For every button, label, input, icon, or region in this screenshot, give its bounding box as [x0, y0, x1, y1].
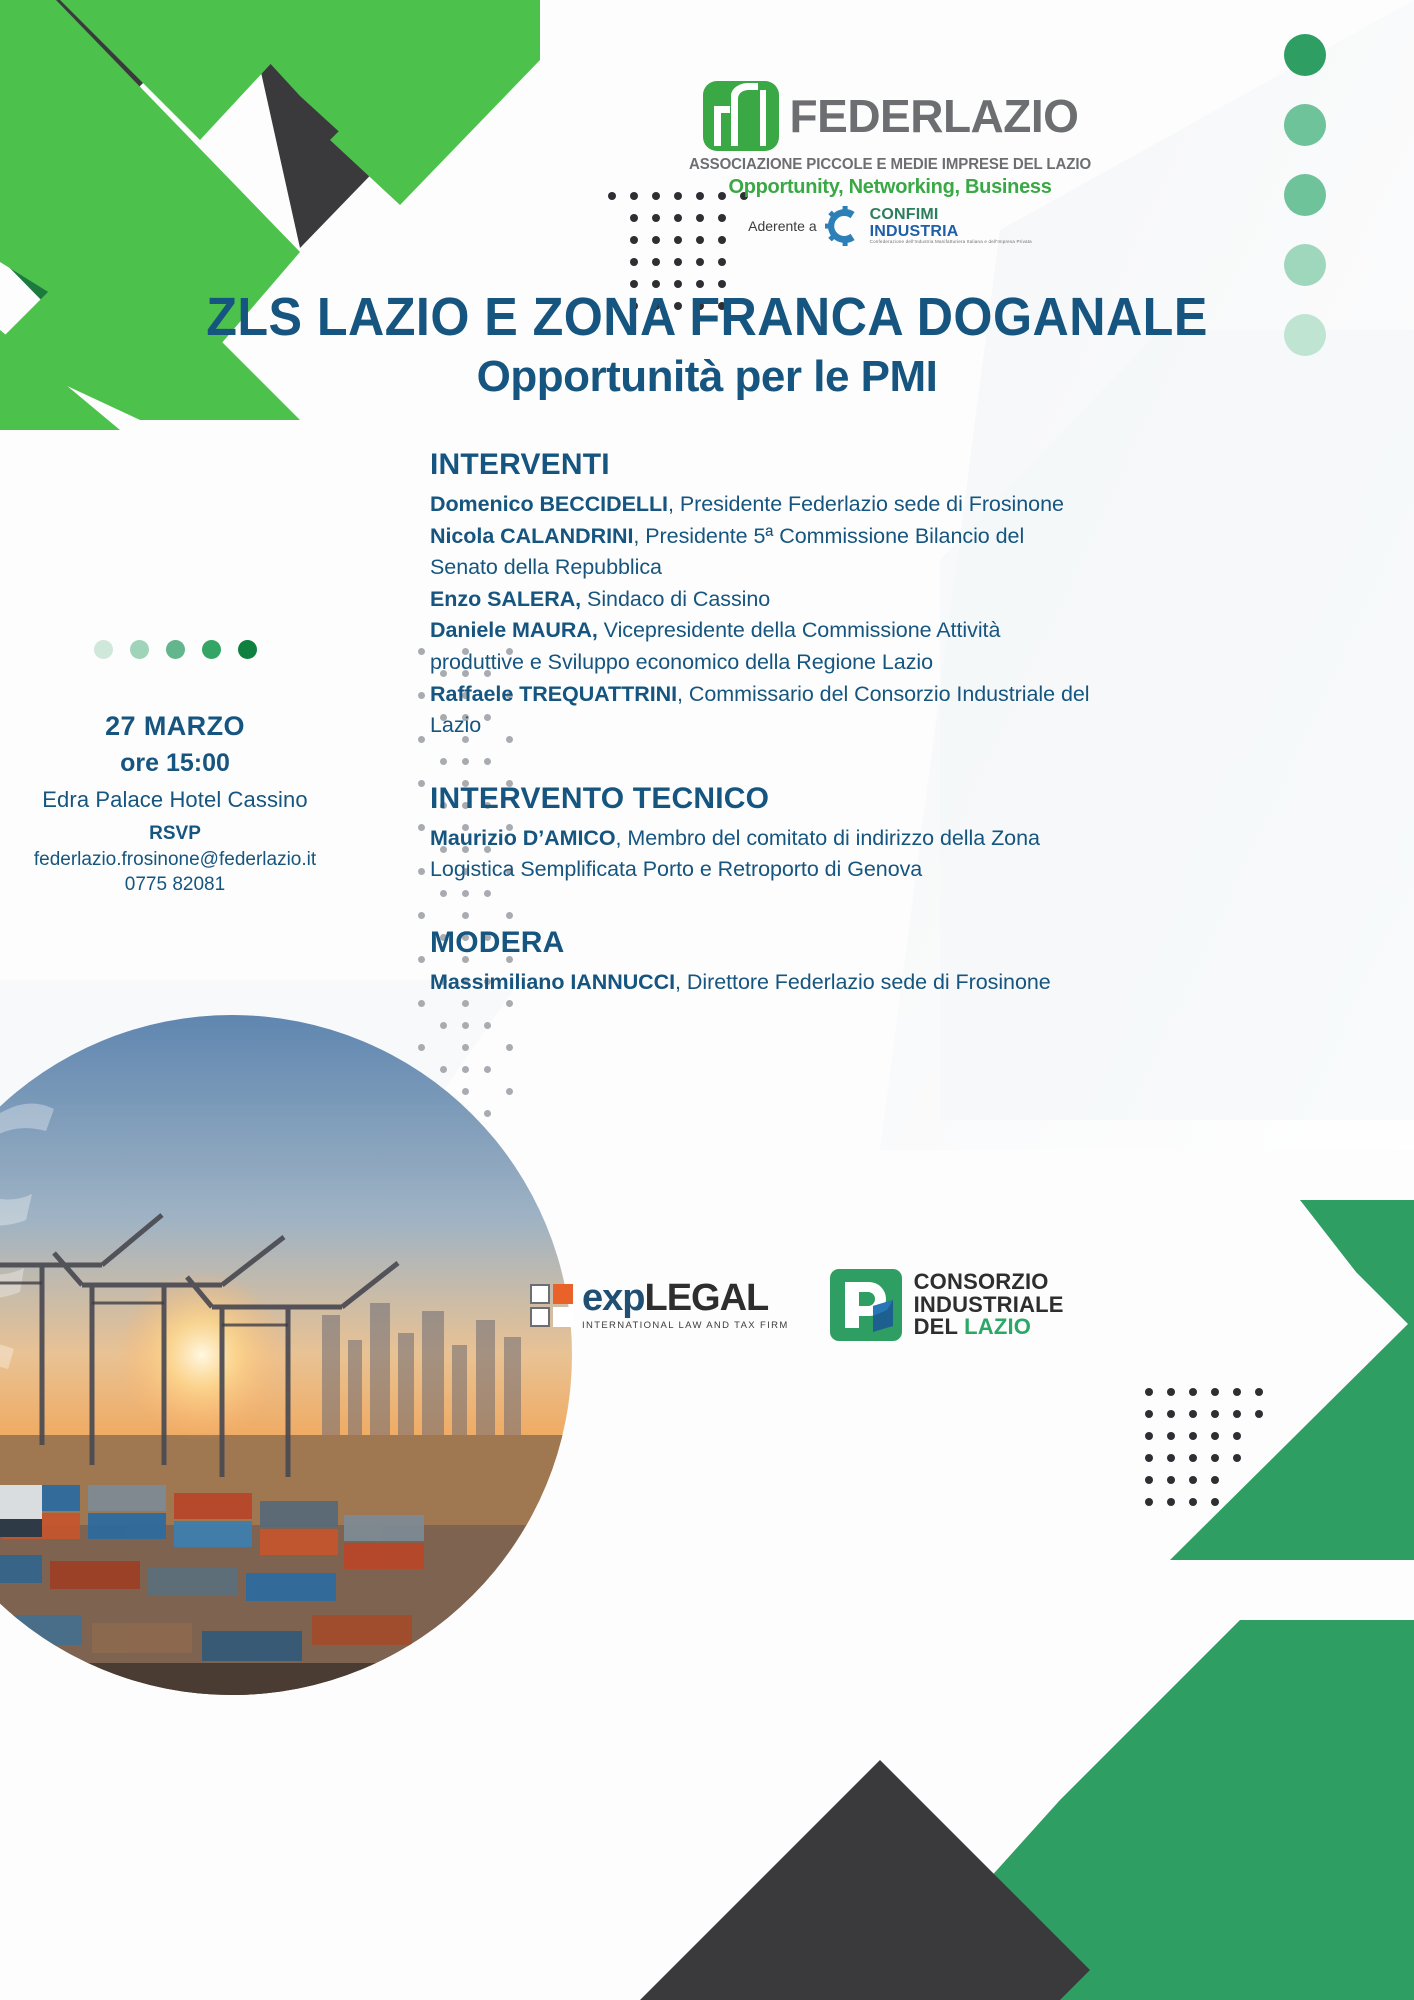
speaker-name: Raffaele TREQUATTRINI: [430, 682, 677, 706]
green-dot-5: [238, 640, 257, 659]
decorative-dot: [718, 258, 726, 266]
decorative-dot: [1189, 1454, 1197, 1462]
decorative-dot: [1255, 1410, 1263, 1418]
green-dot-3: [166, 640, 185, 659]
speaker-name: Domenico BECCIDELLI: [430, 492, 668, 516]
poster-title: ZLS LAZIO E ZONA FRANCA DOGANALE: [49, 286, 1364, 348]
decorative-dot: [630, 236, 638, 244]
decorative-dot: [418, 692, 425, 699]
explegal-exp: exp: [582, 1277, 644, 1319]
decorative-dot: [630, 258, 638, 266]
consorzio-logo: CONSORZIO INDUSTRIALE DEL LAZIO: [829, 1268, 1064, 1342]
decorative-dot: [1233, 1388, 1241, 1396]
explegal-squares: [530, 1284, 573, 1327]
decorative-dot: [418, 956, 425, 963]
decorative-dot: [1189, 1432, 1197, 1440]
programme: INTERVENTIDomenico BECCIDELLI, President…: [430, 448, 1090, 999]
consorzio-line3: DEL LAZIO: [914, 1316, 1064, 1338]
decorative-dot: [1145, 1454, 1153, 1462]
poster-subtitle: Opportunità per le PMI: [0, 352, 1414, 402]
green-dot-4: [202, 640, 221, 659]
aderente-label: Aderente a: [748, 218, 817, 234]
rsvp-label: RSVP: [0, 823, 350, 845]
decorative-dot: [1233, 1454, 1241, 1462]
decorative-dot: [1189, 1476, 1197, 1484]
event-poster: FEDERLAZIO ASSOCIAZIONE PICCOLE E MEDIE …: [0, 0, 1414, 2000]
footer-logos: expLEGAL INTERNATIONAL LAW AND TAX FIRM …: [530, 1268, 1064, 1342]
explegal-logo: expLEGAL INTERNATIONAL LAW AND TAX FIRM: [530, 1279, 789, 1331]
decorative-dot: [418, 1000, 425, 1007]
logo-subtitle: ASSOCIAZIONE PICCOLE E MEDIE IMPRESE DEL…: [662, 156, 1118, 174]
federlazio-mark: [702, 80, 780, 152]
decorative-dot: [1189, 1388, 1197, 1396]
logo-tagline: Opportunity, Networking, Business: [655, 176, 1125, 199]
decorative-dot: [462, 1000, 469, 1007]
speaker-entry: Enzo SALERA, Sindaco di Cassino: [430, 584, 1090, 616]
decorative-dot: [1167, 1410, 1175, 1418]
event-date: 27 MARZO: [0, 711, 350, 742]
decorative-dot: [418, 780, 425, 787]
decorative-dot: [1233, 1410, 1241, 1418]
decorative-dot: [1167, 1454, 1175, 1462]
decorative-dot: [696, 258, 704, 266]
federlazio-logo: FEDERLAZIO ASSOCIAZIONE PICCOLE E MEDIE …: [655, 80, 1125, 246]
decorative-dot: [418, 868, 425, 875]
decorative-dot: [418, 736, 425, 743]
speaker-name: Nicola CALANDRINI: [430, 524, 633, 548]
decorative-dot: [1211, 1388, 1219, 1396]
confimi-logo: CONFIMI INDUSTRIA Confederazione dell'In…: [825, 206, 1032, 246]
decorative-dot: [1211, 1410, 1219, 1418]
speaker-name: Massimiliano IANNUCCI: [430, 970, 675, 994]
speaker-name: Maurizio D’AMICO: [430, 826, 616, 850]
speaker-entry: Maurizio D’AMICO, Membro del comitato di…: [430, 823, 1090, 886]
speaker-entry: Domenico BECCIDELLI, Presidente Federlaz…: [430, 489, 1090, 521]
event-details: 27 MARZO ore 15:00 Edra Palace Hotel Cas…: [0, 640, 350, 896]
consorzio-industriale-mark: [829, 1268, 903, 1342]
consorzio-line3-prefix: DEL: [914, 1314, 965, 1339]
decorative-dot: [674, 258, 682, 266]
confimi-line3: Confederazione dell'Industria Manifattur…: [870, 240, 1032, 245]
aderente-block: Aderente a CONFIMI I: [655, 206, 1125, 246]
event-time: ore 15:00: [0, 749, 350, 778]
speaker-role: , Presidente Federlazio sede di Frosinon…: [668, 492, 1064, 516]
confimi-gear-icon: [825, 206, 865, 246]
decorative-dot: [1189, 1410, 1197, 1418]
decorative-dot: [1167, 1476, 1175, 1484]
section-heading: MODERA: [430, 926, 1090, 960]
decorative-dot: [1167, 1388, 1175, 1396]
decorative-dot: [1145, 1432, 1153, 1440]
confimi-line1: CONFIMI: [870, 207, 1032, 223]
decorative-dot: [1145, 1388, 1153, 1396]
green-dot-row: [0, 640, 350, 659]
decorative-dot: [506, 1000, 513, 1007]
decorative-dot: [1255, 1388, 1263, 1396]
rsvp-phone[interactable]: 0775 82081: [0, 874, 350, 896]
decorative-dot: [1145, 1476, 1153, 1484]
decorative-dot: [1211, 1476, 1219, 1484]
speaker-role: Sindaco di Cassino: [581, 587, 770, 611]
rsvp-email[interactable]: federlazio.frosinone@federlazio.it: [0, 849, 350, 871]
decorative-dot: [608, 192, 616, 200]
speaker-entry: Nicola CALANDRINI, Presidente 5ª Commiss…: [430, 521, 1090, 584]
logo-wordmark: FEDERLAZIO: [790, 93, 1079, 139]
consorzio-line2: INDUSTRIALE: [914, 1294, 1064, 1316]
consorzio-line1: CONSORZIO: [914, 1271, 1064, 1293]
decorative-dot: [630, 192, 638, 200]
confimi-line2: INDUSTRIA: [870, 224, 1032, 240]
decorative-dot: [1189, 1498, 1197, 1506]
port-container-terminal-photo: [0, 1015, 572, 1695]
decorative-dot: [1211, 1454, 1219, 1462]
section-heading: INTERVENTO TECNICO: [430, 782, 1090, 816]
decorative-dot: [652, 258, 660, 266]
explegal-legal: LEGAL: [644, 1277, 768, 1319]
decorative-dot: [1145, 1498, 1153, 1506]
green-dot-1: [94, 640, 113, 659]
event-venue: Edra Palace Hotel Cassino: [0, 787, 350, 813]
green-dot-2: [130, 640, 149, 659]
speaker-role: , Direttore Federlazio sede di Frosinone: [675, 970, 1051, 994]
decorative-dot: [1167, 1498, 1175, 1506]
explegal-wordmark: expLEGAL: [582, 1279, 789, 1317]
decorative-dot: [418, 648, 425, 655]
consorzio-line3-highlight: LAZIO: [964, 1314, 1031, 1339]
decorative-dot: [1145, 1410, 1153, 1418]
speaker-entry: Daniele MAURA, Vicepresidente della Comm…: [430, 615, 1090, 678]
section-heading: INTERVENTI: [430, 448, 1090, 482]
speaker-entry: Massimiliano IANNUCCI, Direttore Federla…: [430, 967, 1090, 999]
speaker-name: Daniele MAURA,: [430, 618, 598, 642]
speaker-entry: Raffaele TREQUATTRINI, Commissario del C…: [430, 679, 1090, 742]
decorative-dot: [418, 824, 425, 831]
decorative-dot: [1167, 1432, 1175, 1440]
decorative-dot: [1211, 1498, 1219, 1506]
decorative-dot: [1233, 1432, 1241, 1440]
explegal-tagline: INTERNATIONAL LAW AND TAX FIRM: [582, 1321, 789, 1331]
decorative-dot: [418, 912, 425, 919]
decorative-dot: [1211, 1432, 1219, 1440]
decorative-dot: [630, 214, 638, 222]
speaker-name: Enzo SALERA,: [430, 587, 581, 611]
